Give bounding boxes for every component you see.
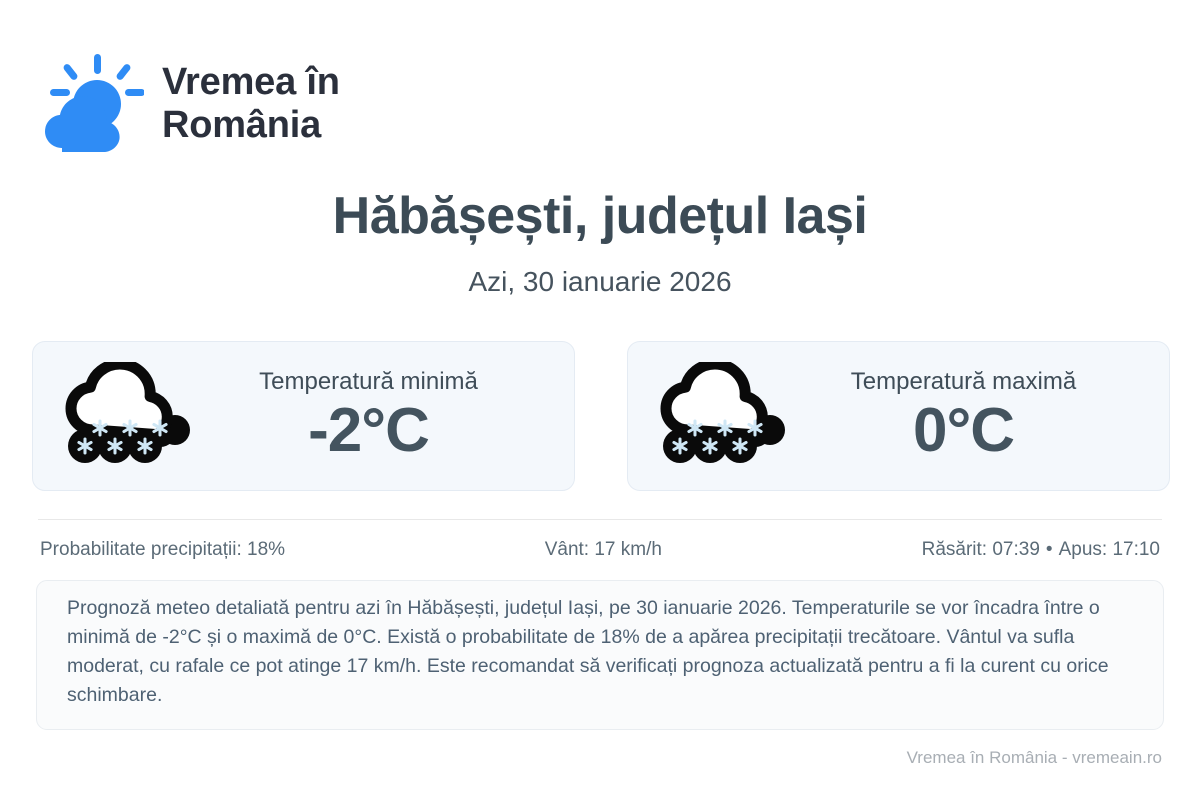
stat-separator: •: [1040, 539, 1059, 560]
max-temperature-label: Temperatură maximă: [786, 369, 1141, 395]
stats-divider: [38, 519, 1162, 520]
min-temperature-value: -2°C: [191, 398, 546, 463]
stats-row: Probabilitate precipitații: 18% Vânt: 17…: [40, 539, 1160, 561]
forecast-description-box: Prognoză meteo detaliată pentru azi în H…: [36, 580, 1164, 730]
sunset-time: Apus: 17:10: [1059, 539, 1160, 560]
min-temperature-label: Temperatură minimă: [191, 369, 546, 395]
sun-behind-cloud-icon: [36, 52, 144, 156]
sunrise-time: Răsărit: 07:39: [922, 539, 1040, 560]
forecast-date: Azi, 30 ianuarie 2026: [0, 266, 1200, 298]
max-temperature-value: 0°C: [786, 398, 1141, 463]
brand-header: Vremea în România: [36, 52, 340, 156]
wind-stat: Vânt: 17 km/h: [285, 539, 922, 561]
page-title: Hăbășești, județul Iași: [0, 186, 1200, 246]
sun-times-stat: Răsărit: 07:39•Apus: 17:10: [922, 539, 1160, 561]
cloud-snow-icon: [63, 362, 191, 470]
forecast-description-text: Prognoză meteo detaliată pentru azi în H…: [67, 594, 1133, 710]
min-temperature-body: Temperatură minimă -2°C: [191, 369, 564, 462]
max-temperature-card: Temperatură maximă 0°C: [627, 341, 1170, 491]
footer-credit: Vremea în România - vremeain.ro: [907, 748, 1162, 768]
brand-title: Vremea în România: [162, 61, 340, 146]
cloud-snow-icon: [658, 362, 786, 470]
max-temperature-body: Temperatură maximă 0°C: [786, 369, 1159, 462]
weather-forecast-page: Vremea în România Hăbășești, județul Iaș…: [0, 0, 1200, 800]
precipitation-stat: Probabilitate precipitații: 18%: [40, 539, 285, 561]
min-temperature-card: Temperatură minimă -2°C: [32, 341, 575, 491]
temperature-cards: Temperatură minimă -2°C: [32, 341, 1170, 491]
